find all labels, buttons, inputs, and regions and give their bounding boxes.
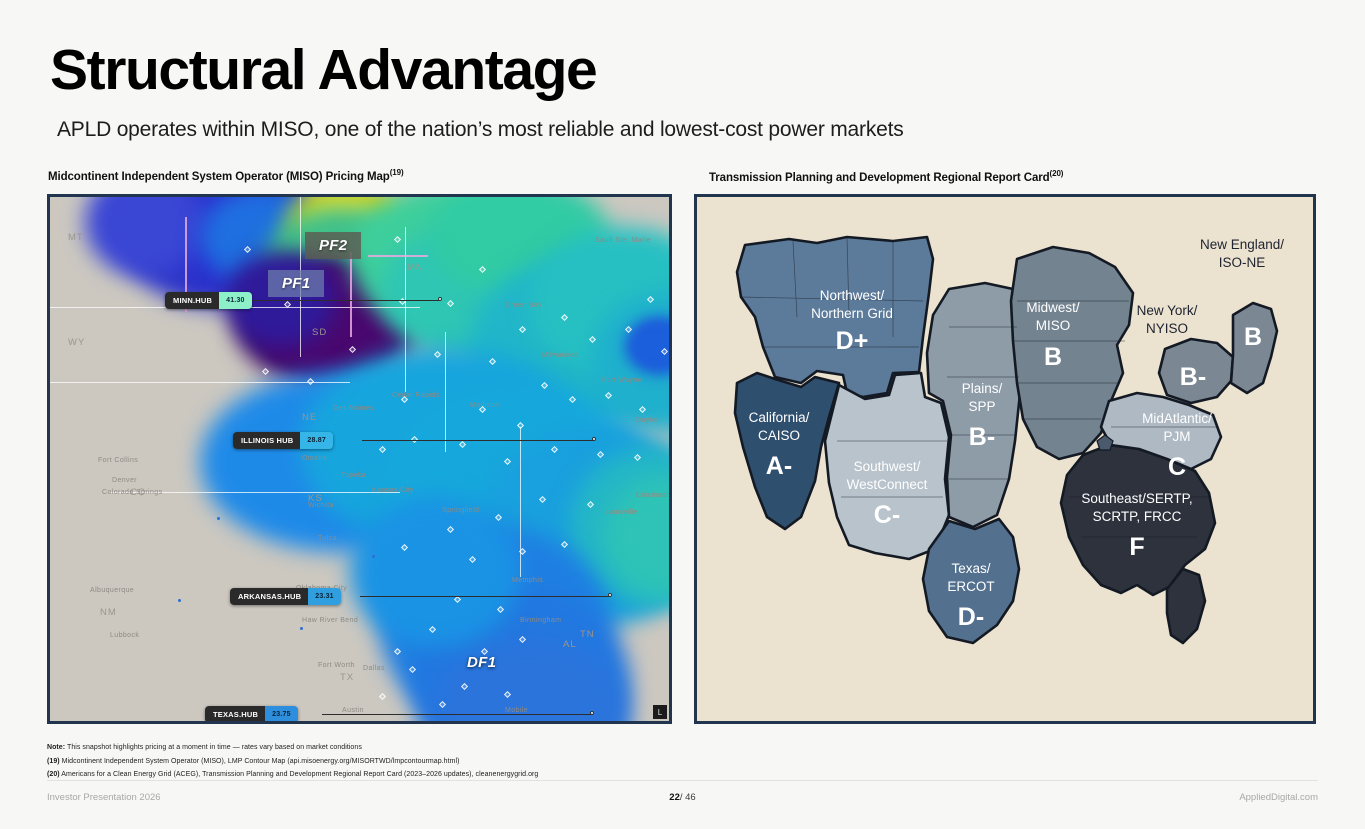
map-corner-badge: L — [653, 705, 667, 719]
region-grade-california: A- — [766, 452, 792, 480]
right-panel-heading-text: Transmission Planning and Development Re… — [709, 172, 1050, 184]
region-grade-midwest: B — [1044, 343, 1062, 371]
region-grade-northwest: D+ — [836, 327, 869, 355]
footnote-19-marker: (19) — [47, 758, 60, 765]
region-label-midwest-line2: MISO — [1036, 318, 1071, 333]
region-grade-newengland: B — [1244, 323, 1262, 351]
region-shape-florida — [1167, 569, 1205, 643]
power-flow-label-df1: DF1 — [453, 649, 510, 676]
footer-page-current: 22 — [669, 792, 680, 803]
note-text: This snapshot highlights pricing at a mo… — [67, 744, 362, 751]
left-panel-heading: Midcontinent Independent System Operator… — [48, 168, 404, 183]
note-line-19: (19) Midcontinent Independent System Ope… — [47, 755, 947, 769]
right-panel-heading-footnote-marker: (20) — [1050, 169, 1064, 178]
region-label-newyork-line1: New York/ — [1137, 303, 1198, 318]
footer: Investor Presentation 2026 22/ 46 Applie… — [47, 788, 1318, 806]
region-label-southeast-line1: Southeast/SERTP, — [1081, 491, 1192, 506]
hub-name-illinois: ILLINOIS HUB — [233, 432, 300, 449]
region-label-midatlantic-line1: MidAtlantic/ — [1142, 411, 1212, 426]
region-grade-midatlantic: C — [1168, 453, 1186, 481]
hub-name-texas: TEXAS.HUB — [205, 706, 265, 723]
region-label-northwest-line2: Northern Grid — [811, 306, 893, 321]
region-grade-plains: B- — [969, 423, 995, 451]
region-label-texas-line1: Texas/ — [951, 561, 990, 576]
left-panel-heading-text: Midcontinent Independent System Operator… — [48, 171, 390, 183]
region-label-california-line2: CAISO — [758, 428, 800, 443]
region-grade-newyork: B- — [1180, 363, 1206, 391]
region-grade-southwest: C- — [874, 501, 900, 529]
region-label-midatlantic-line2: PJM — [1164, 429, 1191, 444]
power-flow-label-pf1: PF1 — [268, 270, 324, 297]
us-region-map-svg: Northwest/ Northern Grid D+ California/ … — [697, 197, 1313, 721]
hub-flag-illinois[interactable]: ILLINOIS HUB 28.87 — [233, 432, 333, 449]
region-shape-california — [735, 373, 839, 529]
region-label-plains-line2: SPP — [968, 399, 995, 414]
hub-value-texas: 23.75 — [265, 706, 298, 723]
left-panel-heading-footnote-marker: (19) — [390, 168, 404, 177]
region-grade-texas: D- — [958, 603, 984, 631]
hub-name-minn: MINN.HUB — [165, 292, 219, 309]
region-label-southwest-line1: Southwest/ — [854, 459, 921, 474]
region-label-plains-line1: Plains/ — [962, 381, 1003, 396]
footnotes: Note: This snapshot highlights pricing a… — [47, 741, 947, 782]
region-grade-southeast: F — [1129, 533, 1144, 561]
hub-value-illinois: 28.87 — [300, 432, 333, 449]
hub-flag-minn[interactable]: MINN.HUB 41.30 — [165, 292, 252, 309]
region-label-texas-line2: ERCOT — [947, 579, 994, 594]
page-subtitle: APLD operates within MISO, one of the na… — [57, 118, 904, 142]
region-label-midwest-line1: Midwest/ — [1026, 300, 1080, 315]
page-title: Structural Advantage — [50, 42, 596, 99]
region-label-newyork-line2: NYISO — [1146, 321, 1188, 336]
note-label: Note: — [47, 744, 65, 751]
right-panel-heading: Transmission Planning and Development Re… — [709, 169, 1063, 184]
region-label-southwest-line2: WestConnect — [847, 477, 928, 492]
region-label-northwest-line1: Northwest/ — [820, 288, 885, 303]
hub-value-arkansas: 23.31 — [308, 588, 341, 605]
hub-value-minn: 41.30 — [219, 292, 252, 309]
miso-pricing-map[interactable]: MT MN WY SD NE KS CO NM TX TN AL Sault S… — [47, 194, 672, 724]
footer-page-number: 22/ 46 — [47, 792, 1318, 803]
hub-flag-texas[interactable]: TEXAS.HUB 23.75 — [205, 706, 298, 723]
regional-report-card-map[interactable]: Northwest/ Northern Grid D+ California/ … — [694, 194, 1316, 724]
footnote-20-text: Americans for a Clean Energy Grid (ACEG)… — [61, 771, 538, 778]
footnote-20-marker: (20) — [47, 771, 60, 778]
hub-flag-arkansas[interactable]: ARKANSAS.HUB 23.31 — [230, 588, 341, 605]
hub-name-arkansas: ARKANSAS.HUB — [230, 588, 308, 605]
region-label-southeast-line2: SCRTP, FRCC — [1093, 509, 1182, 524]
footer-divider — [47, 780, 1318, 781]
power-flow-label-pf2: PF2 — [305, 232, 361, 259]
footnote-19-text: Midcontinent Independent System Operator… — [62, 758, 460, 765]
region-label-newengland-line2: ISO-NE — [1219, 255, 1266, 270]
region-label-california-line1: California/ — [749, 410, 810, 425]
note-line-main: Note: This snapshot highlights pricing a… — [47, 741, 947, 755]
region-label-newengland-line1: New England/ — [1200, 237, 1284, 252]
footer-page-total: / 46 — [680, 792, 696, 803]
